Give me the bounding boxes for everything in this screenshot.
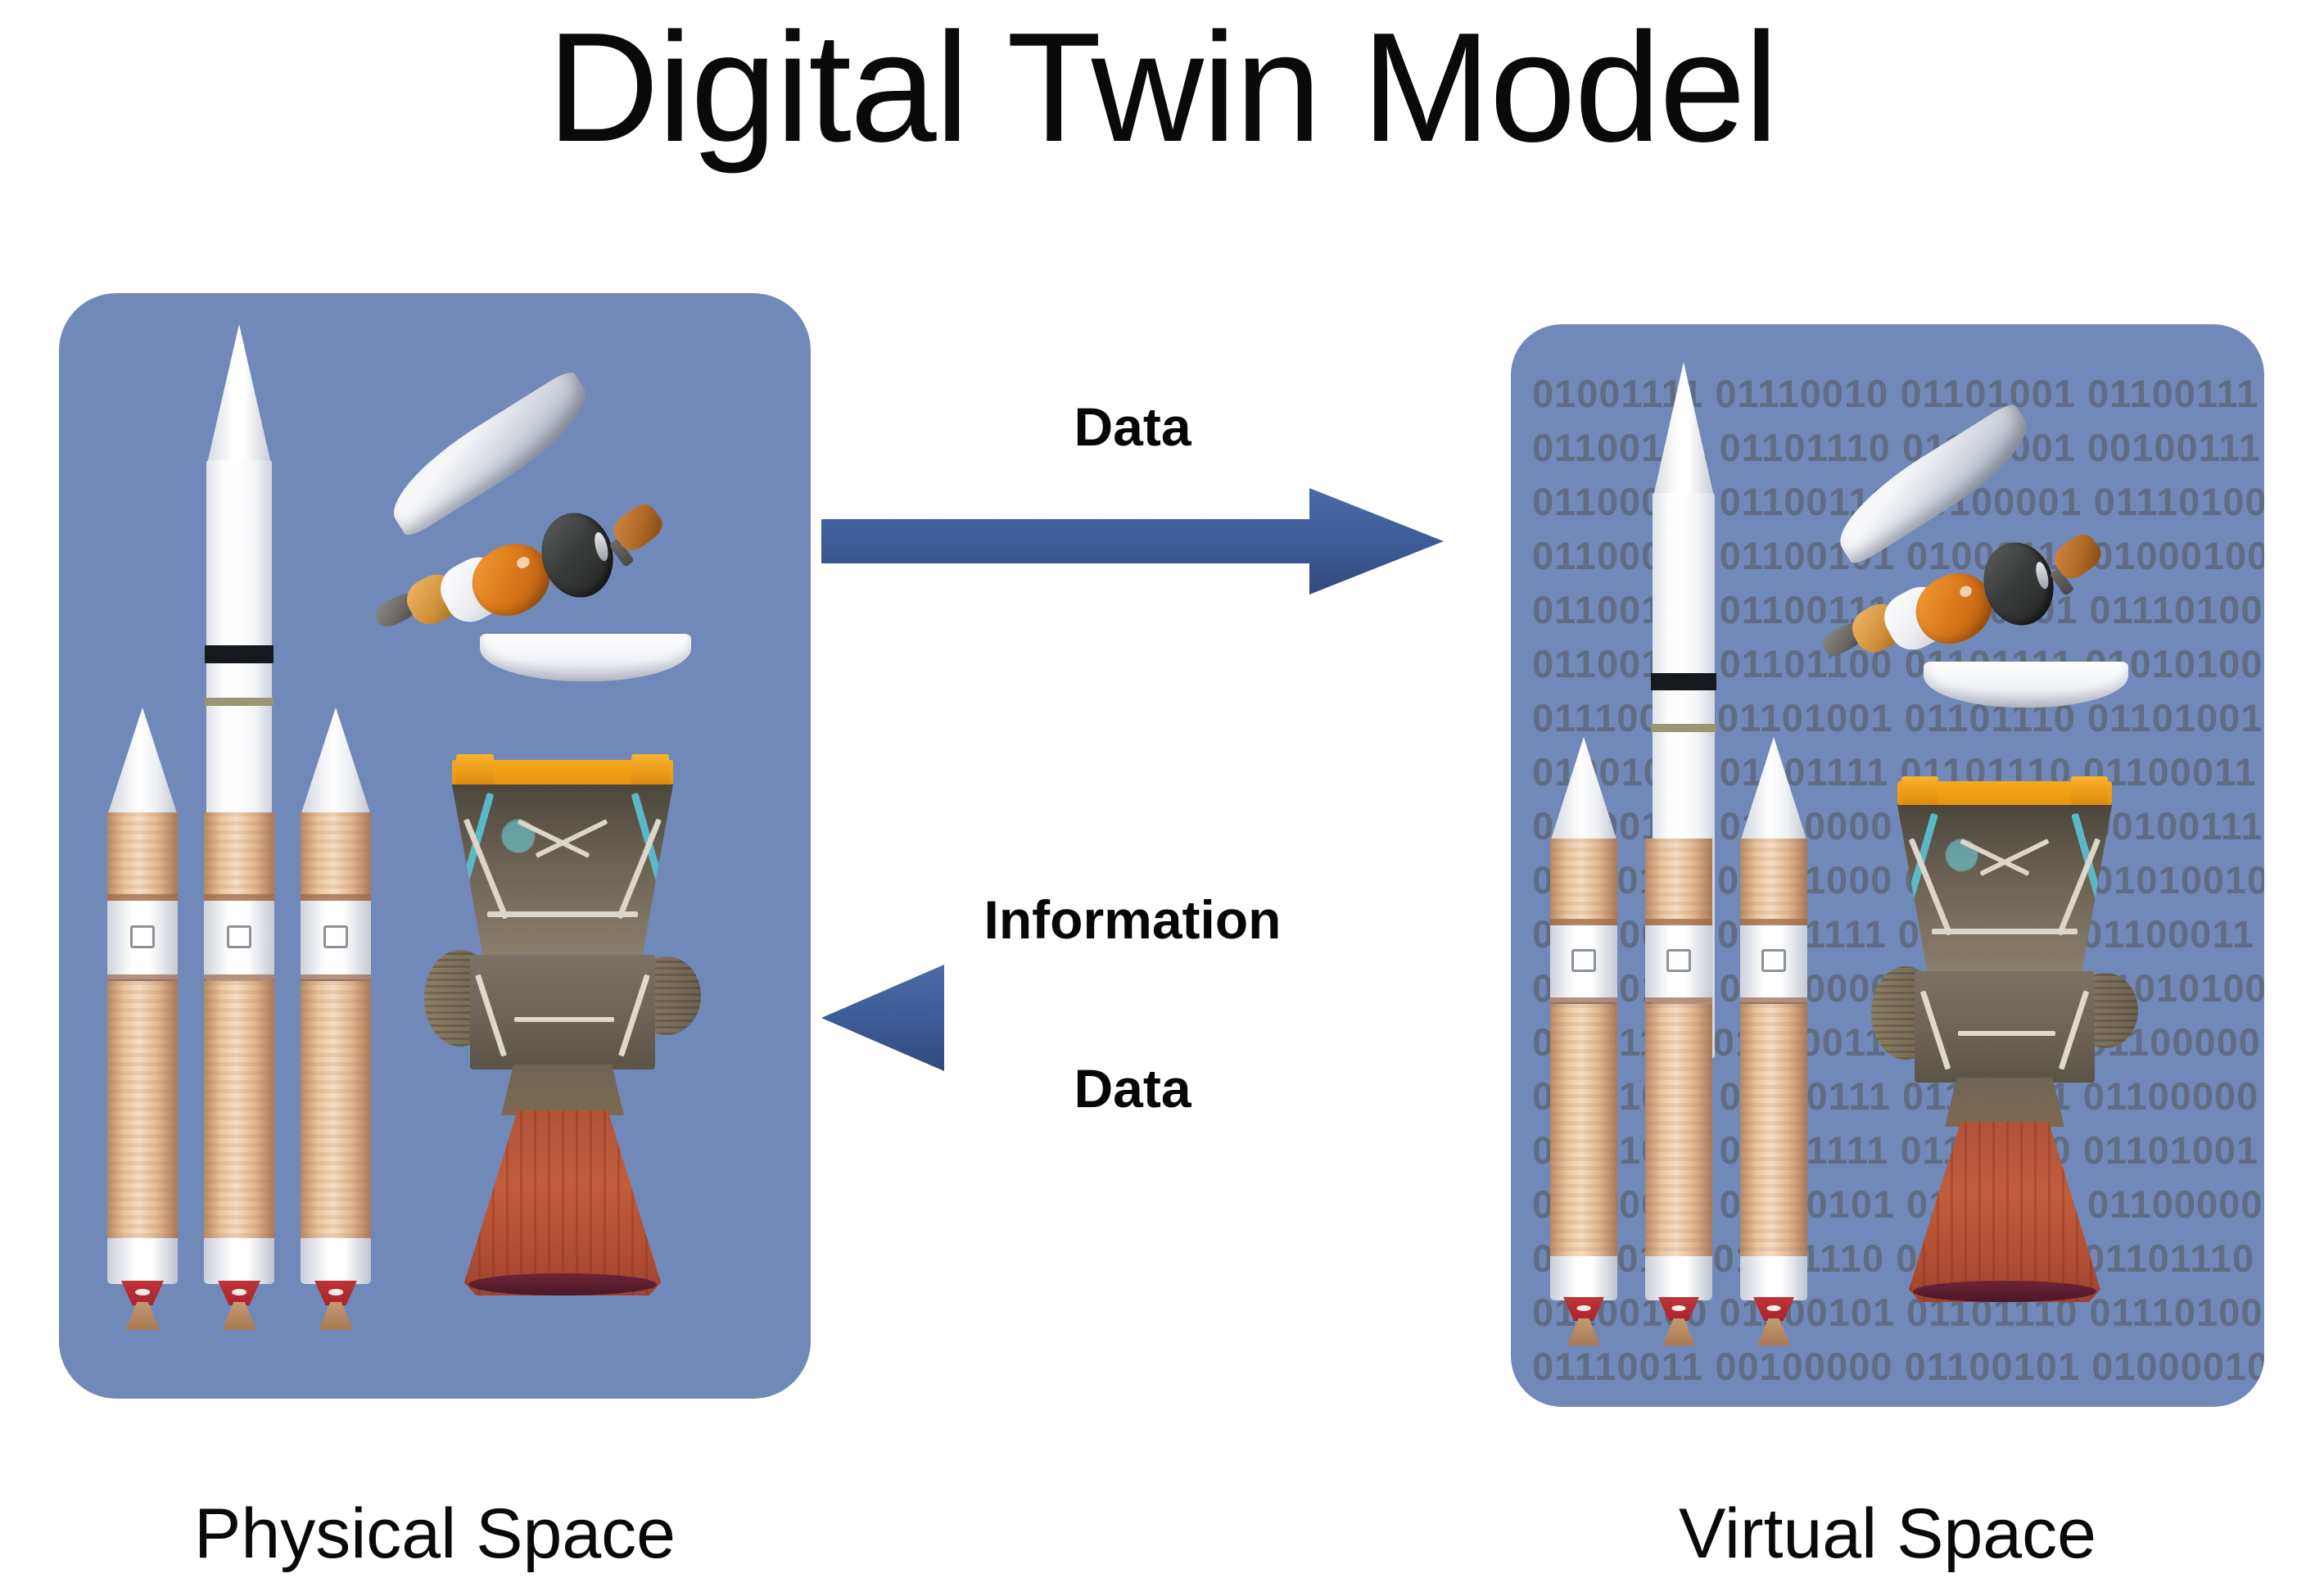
engine-mount-bar [452,760,673,784]
booster-left [107,708,178,1315]
rocket-nose-cone [207,324,271,463]
booster-lower-tank [1740,1004,1807,1259]
booster-skirt [1740,1256,1807,1300]
engine-strut [475,974,507,1057]
engine-nozzle [1909,1122,2100,1302]
booster-lower-tank [1645,1004,1712,1259]
engine-powerhead [452,784,673,956]
booster-engine-cone [121,1281,164,1305]
information-arrow-label-top: Information [821,893,1444,947]
booster-left [1550,737,1617,1336]
engine-strut [1932,929,2078,934]
engine-powerhead [1897,805,2112,972]
booster-white-band [204,901,274,979]
information-arrow-label-bottom: Data [821,1061,1444,1115]
booster-lower-tank [1550,1004,1617,1259]
booster-skirt [1550,1256,1617,1300]
booster-upper-tank [1645,839,1712,925]
rocket-nose-cone [1653,362,1714,496]
physical-space-caption: Physical Space [59,1499,811,1569]
exploded-payload-physical [380,416,765,727]
payload-fairing-base [1924,662,2128,708]
booster-engine-bell [1567,1318,1600,1345]
booster-hatch [1571,949,1596,972]
booster-white-band [301,901,371,979]
binary-row: 01100011 01101110 01101110 01100000 [1532,1394,2264,1407]
data-arrow-label: Data [821,400,1444,454]
booster-hatch [130,925,155,948]
booster-upper-tank [107,812,178,901]
booster-center [204,708,274,1315]
booster-upper-tank [1740,839,1807,925]
booster-right [301,708,371,1315]
payload-fairing-base [480,634,691,681]
engine-throat [1945,1078,2064,1127]
booster-skirt [107,1238,178,1284]
booster-nose-cone [1550,737,1617,842]
engine-strut [1958,1031,2055,1036]
booster-engine-bell [1662,1318,1695,1345]
rocket-interstage-band [1651,724,1716,732]
booster-skirt [301,1238,371,1284]
booster-center [1645,737,1712,1336]
booster-skirt [1645,1256,1712,1300]
rs68-engine-virtual [1897,781,2112,1305]
information-arrow-left [821,965,1444,1071]
booster-white-band [107,901,178,979]
booster-engine-bell [1757,1318,1790,1345]
booster-hatch [1666,949,1691,972]
booster-engine-bell [222,1302,256,1330]
engine-mount-bar [1897,781,2112,805]
engine-strut [536,819,608,857]
booster-engine-cone [1753,1297,1794,1321]
booster-lower-tank [107,981,178,1241]
engine-strut [2059,990,2090,1069]
booster-nose-cone [301,708,371,816]
booster-hatch [1761,949,1786,972]
booster-hatch [227,925,251,948]
booster-white-band [1550,925,1617,1002]
binary-row: 01110011 00100000 01100101 01000010 [1532,1340,2264,1394]
engine-nozzle [464,1110,661,1295]
booster-upper-tank [204,812,274,901]
booster-white-band [1645,925,1712,1002]
engine-strut [487,911,638,917]
booster-white-band [1740,925,1807,1002]
booster-right [1740,737,1807,1336]
delta-iv-heavy-rocket-virtual [1549,362,1819,1336]
booster-skirt [204,1238,274,1284]
virtual-space-caption: Virtual Space [1511,1499,2264,1569]
booster-engine-bell [125,1302,160,1330]
booster-nose-cone [107,708,178,816]
engine-turbopump-section [1915,971,2095,1083]
booster-engine-cone [1563,1297,1604,1321]
engine-throat [501,1065,624,1115]
booster-engine-cone [1658,1297,1699,1321]
booster-upper-tank [1550,839,1617,925]
engine-turbopump-section [470,955,656,1069]
data-arrow-right [821,488,1444,595]
engine-teal-line [631,793,672,913]
page-title: Digital Twin Model [0,10,2324,165]
engine-teal-line [2071,813,2111,930]
virtual-space-panel: 01001111 01110010 01101001 0110011101100… [1511,324,2264,1407]
booster-hatch [323,925,348,948]
engine-strut [1920,990,1951,1069]
rocket-stage-band [1651,673,1716,690]
engine-strut [618,974,650,1057]
engine-strut [517,819,590,857]
booster-upper-tank [301,812,371,901]
rocket-stage-band [205,645,274,663]
engine-teal-line [1898,813,1938,930]
booster-nose-cone [1740,737,1807,842]
booster-engine-cone [314,1281,357,1305]
booster-lower-tank [301,981,371,1241]
exploded-payload-virtual [1827,447,2212,758]
engine-teal-line [453,793,494,913]
delta-iv-heavy-rocket-physical [104,324,374,1315]
booster-lower-tank [204,981,274,1241]
rocket-interstage-band [205,698,274,706]
booster-engine-bell [319,1302,353,1330]
engine-strut [514,1017,614,1022]
physical-space-panel [59,293,811,1399]
booster-engine-cone [218,1281,260,1305]
rs68-engine-physical [452,760,673,1292]
